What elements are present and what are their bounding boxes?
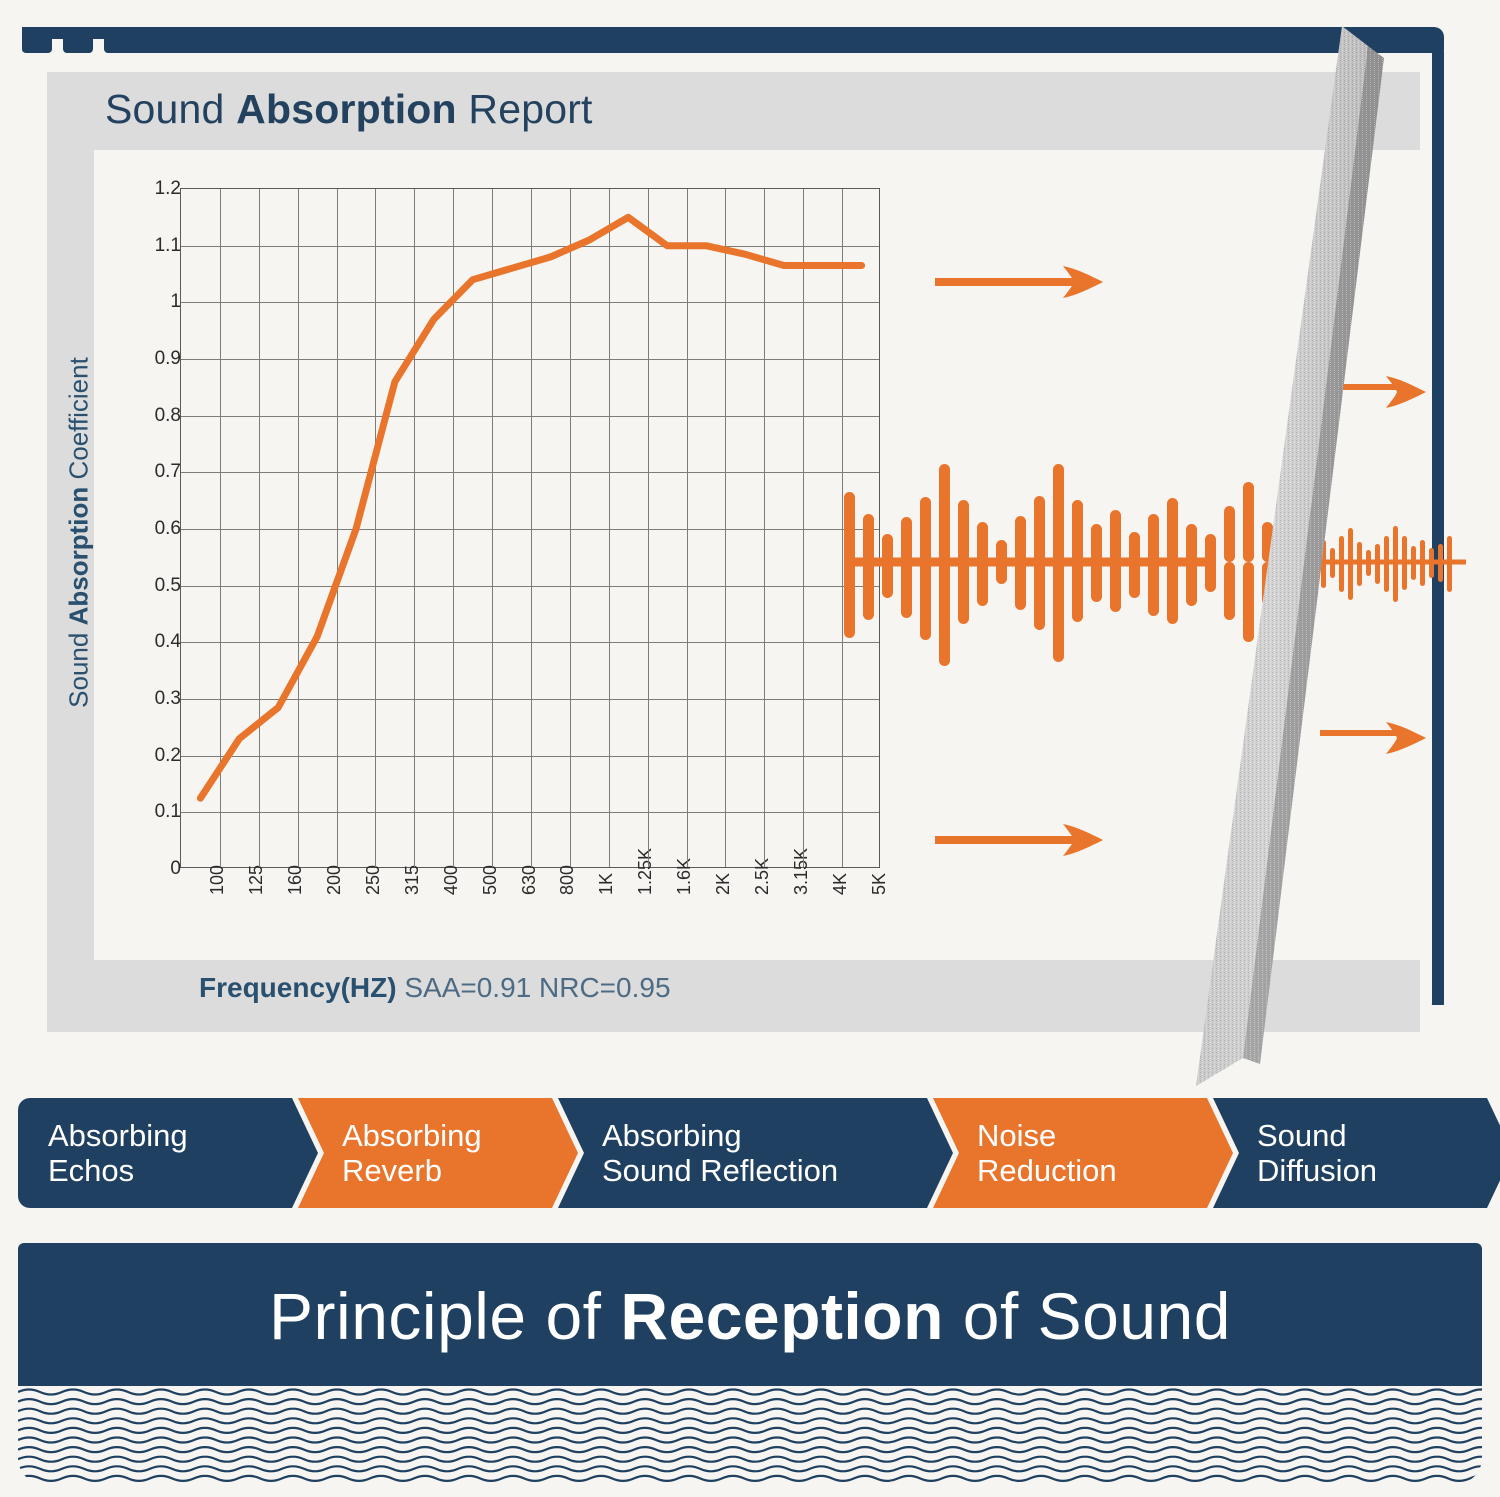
- x-axis-tick-label: 1K: [596, 873, 617, 895]
- y-axis-tick-label: 1: [170, 291, 181, 313]
- y-axis-tick-label: 1.2: [155, 178, 181, 200]
- waveform-bar: [844, 562, 855, 638]
- waveform-bar: [996, 540, 1007, 562]
- feature-chevron-row: AbsorbingEchosAbsorbingReverbAbsorbingSo…: [18, 1098, 1482, 1208]
- wave-line: [18, 1457, 1482, 1462]
- chevron-item-2[interactable]: AbsorbingReverb: [298, 1098, 578, 1208]
- waveform-bar: [901, 562, 912, 618]
- waveform-bar: [901, 517, 912, 562]
- waveform-bar: [1053, 562, 1064, 662]
- y-axis-tick-label: 0.6: [155, 518, 181, 540]
- banner-suffix: of Sound: [944, 1279, 1231, 1353]
- absorption-chart: 1.21.110.90.80.70.60.50.40.30.20.1010012…: [105, 170, 895, 930]
- y-axis-title: Sound Absorption Coefficient: [64, 233, 95, 833]
- chevron-label-line1: Sound: [1257, 1118, 1377, 1153]
- report-title-prefix: Sound: [105, 86, 236, 132]
- chevron-item-3[interactable]: AbsorbingSound Reflection: [558, 1098, 953, 1208]
- waveform-bar: [1091, 562, 1102, 602]
- chevron-label: AbsorbingEchos: [18, 1118, 188, 1189]
- chevron-label: NoiseReduction: [933, 1118, 1117, 1189]
- waveform-bar: [1429, 548, 1434, 562]
- x-axis-tick-label: 100: [207, 865, 228, 895]
- banner-bold: Reception: [620, 1279, 944, 1353]
- chevron-item-4[interactable]: NoiseReduction: [933, 1098, 1233, 1208]
- y-axis-title-suffix: Coefficient: [64, 357, 94, 487]
- chevron-label-line2: Reduction: [977, 1153, 1117, 1188]
- x-axis-tick-label: 500: [480, 865, 501, 895]
- waveform-bar: [920, 562, 931, 640]
- y-axis-tick-label: 0: [170, 858, 181, 880]
- waveform-bar: [882, 562, 893, 598]
- waveform-bar: [958, 500, 969, 562]
- waveform-bar: [844, 492, 855, 562]
- chevron-label: AbsorbingSound Reflection: [558, 1118, 838, 1189]
- x-axis-tick-label: 160: [285, 865, 306, 895]
- waveform-bar: [1015, 516, 1026, 562]
- x-axis-tick-label: 200: [324, 865, 345, 895]
- chevron-item-1[interactable]: AbsorbingEchos: [18, 1098, 318, 1208]
- x-axis-tick-label: 250: [363, 865, 384, 895]
- x-axis-tick-label: 125: [246, 865, 267, 895]
- wave-line: [18, 1428, 1482, 1433]
- wave-line: [18, 1418, 1482, 1423]
- incoming-arrow-top-icon: [935, 266, 1103, 298]
- banner-prefix: Principle of: [269, 1279, 620, 1353]
- absorption-curve: [200, 217, 861, 798]
- wave-line: [18, 1447, 1482, 1452]
- acoustic-panel: [1110, 18, 1410, 1098]
- waveform-bar: [958, 562, 969, 624]
- waveform-bar: [1447, 562, 1452, 592]
- chevron-label-line2: Reverb: [342, 1153, 482, 1188]
- y-axis-tick-label: 0.1: [155, 801, 181, 823]
- caption-frequency-label: Frequency(HZ): [199, 972, 397, 1003]
- waveform-bar: [1015, 562, 1026, 610]
- report-title-bold: Absorption: [236, 86, 457, 132]
- wave-line: [18, 1409, 1482, 1414]
- y-axis-tick-label: 0.2: [155, 745, 181, 767]
- chevron-label-line1: Absorbing: [602, 1118, 838, 1153]
- y-axis-tick-label: 0.4: [155, 631, 181, 653]
- x-axis-tick-label: 400: [441, 865, 462, 895]
- waveform-bar: [1438, 544, 1443, 562]
- wave-line: [18, 1476, 1482, 1481]
- chevron-label: SoundDiffusion: [1213, 1118, 1377, 1189]
- waveform-bar: [1072, 500, 1083, 562]
- y-axis-title-bold: Absorption: [64, 487, 94, 626]
- wave-line: [18, 1466, 1482, 1471]
- panel-side-edge: [1243, 46, 1384, 1064]
- chart-series-svg: [181, 189, 881, 869]
- y-axis-tick-label: 0.8: [155, 405, 181, 427]
- page-title: Sound Absorption Report: [105, 86, 593, 133]
- chevron-label-line2: Sound Reflection: [602, 1153, 838, 1188]
- waveform-bar: [996, 562, 1007, 584]
- x-axis-tick-label: 630: [519, 865, 540, 895]
- panel-front-face: [1196, 26, 1368, 1086]
- waveform-bar: [939, 464, 950, 562]
- waveform-bar: [1438, 562, 1443, 582]
- chevron-label-line1: Absorbing: [48, 1118, 188, 1153]
- chevron-item-5[interactable]: SoundDiffusion: [1213, 1098, 1500, 1208]
- wave-line: [18, 1399, 1482, 1404]
- chevron-label-line2: Echos: [48, 1153, 188, 1188]
- caption-saa-value: SAA=0.91: [404, 972, 531, 1003]
- wavy-lines-decoration: [18, 1386, 1482, 1484]
- y-axis-tick-label: 1.1: [155, 235, 181, 257]
- waveform-bar: [1411, 546, 1416, 562]
- waveform-bar: [882, 534, 893, 562]
- infographic-root: Sound Absorption Report Sound Absorption…: [0, 0, 1500, 1497]
- wave-pattern-strip: [18, 1386, 1482, 1484]
- waveform-bar: [1420, 562, 1425, 586]
- wave-line: [18, 1438, 1482, 1443]
- x-axis-tick-label: 800: [557, 865, 578, 895]
- waveform-bar: [920, 497, 931, 562]
- y-axis-title-prefix: Sound: [64, 625, 94, 707]
- y-axis-tick-label: 0.5: [155, 575, 181, 597]
- chevron-label-line1: Noise: [977, 1118, 1117, 1153]
- wave-line: [18, 1390, 1482, 1395]
- waveform-bar: [977, 562, 988, 606]
- waveform-bar: [1053, 464, 1064, 562]
- waveform-bar: [977, 522, 988, 562]
- y-axis-tick-label: 0.7: [155, 461, 181, 483]
- x-axis-tick-label: 2K: [713, 873, 734, 895]
- window-square-1-icon: [22, 27, 52, 53]
- waveform-bar: [1091, 524, 1102, 562]
- bottom-banner: Principle of Reception of Sound: [18, 1243, 1482, 1388]
- waveform-bar: [1072, 562, 1083, 622]
- waveform-bar: [1034, 496, 1045, 562]
- y-axis-tick-label: 0.9: [155, 348, 181, 370]
- banner-title: Principle of Reception of Sound: [269, 1278, 1231, 1354]
- window-square-2-icon: [63, 27, 93, 53]
- chevron-label-line1: Absorbing: [342, 1118, 482, 1153]
- chart-caption: Frequency(HZ) SAA=0.91 NRC=0.95: [199, 972, 671, 1004]
- waveform-bar: [1034, 562, 1045, 630]
- report-title-suffix: Report: [457, 86, 593, 132]
- incoming-arrow-bottom-icon: [935, 824, 1103, 856]
- waveform-bar: [1411, 562, 1416, 580]
- waveform-bar: [939, 562, 950, 666]
- caption-nrc-value: NRC=0.95: [539, 972, 671, 1003]
- chevron-label-line2: Diffusion: [1257, 1153, 1377, 1188]
- waveform-bar: [863, 514, 874, 562]
- y-axis-tick-label: 0.3: [155, 688, 181, 710]
- chart-plot-area: 1.21.110.90.80.70.60.50.40.30.20.1010012…: [180, 188, 880, 868]
- chevron-label: AbsorbingReverb: [298, 1118, 482, 1189]
- waveform-bar: [1420, 540, 1425, 562]
- waveform-bar: [1447, 536, 1452, 562]
- waveform-bar: [1429, 562, 1434, 578]
- x-axis-tick-label: 315: [402, 865, 423, 895]
- waveform-bar: [863, 562, 874, 620]
